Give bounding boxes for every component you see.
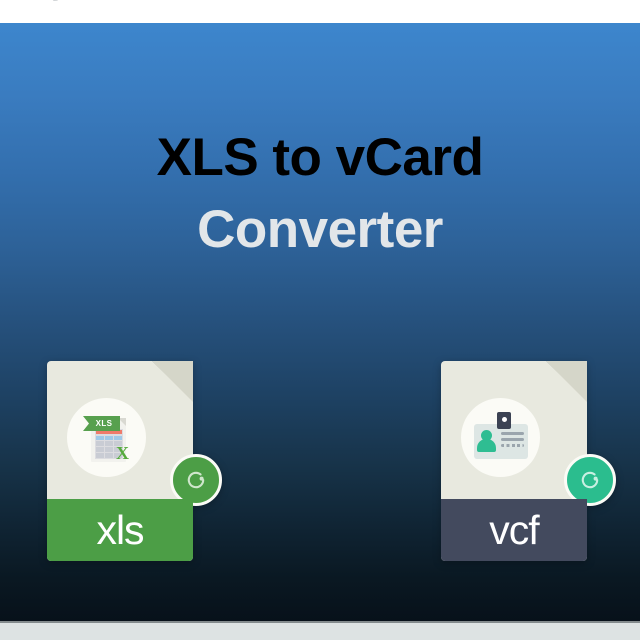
excel-x-mark: X (116, 444, 129, 462)
refresh-icon (577, 467, 603, 493)
source-extension-label: xls (47, 499, 193, 561)
contact-card-icon (472, 412, 530, 464)
target-extension-label: vcf (441, 499, 587, 561)
card-text-lines (501, 432, 524, 450)
xls-spreadsheet-icon: XLS X (81, 412, 133, 464)
conversion-illustration: XLS X xls (0, 341, 640, 571)
avatar-body (477, 439, 496, 452)
top-white-strip: d (0, 0, 640, 23)
poster-image: d XLS to vCard Converter (0, 0, 640, 640)
refresh-icon (183, 467, 209, 493)
glyph-plate: XLS X (67, 398, 146, 477)
xls-ribbon-label: XLS (83, 416, 120, 431)
title-line-secondary: Converter (0, 199, 640, 261)
footer-bar (0, 623, 640, 640)
clipped-text-fragment: d (52, 0, 68, 3)
gradient-banner: XLS to vCard Converter (0, 23, 640, 621)
card-clip-badge (497, 412, 511, 429)
target-file-icon: vcf (441, 361, 587, 561)
title-line-primary: XLS to vCard (0, 127, 640, 189)
page-title: XLS to vCard Converter (0, 127, 640, 261)
glyph-plate (461, 398, 540, 477)
source-file-icon: XLS X xls (47, 361, 193, 561)
